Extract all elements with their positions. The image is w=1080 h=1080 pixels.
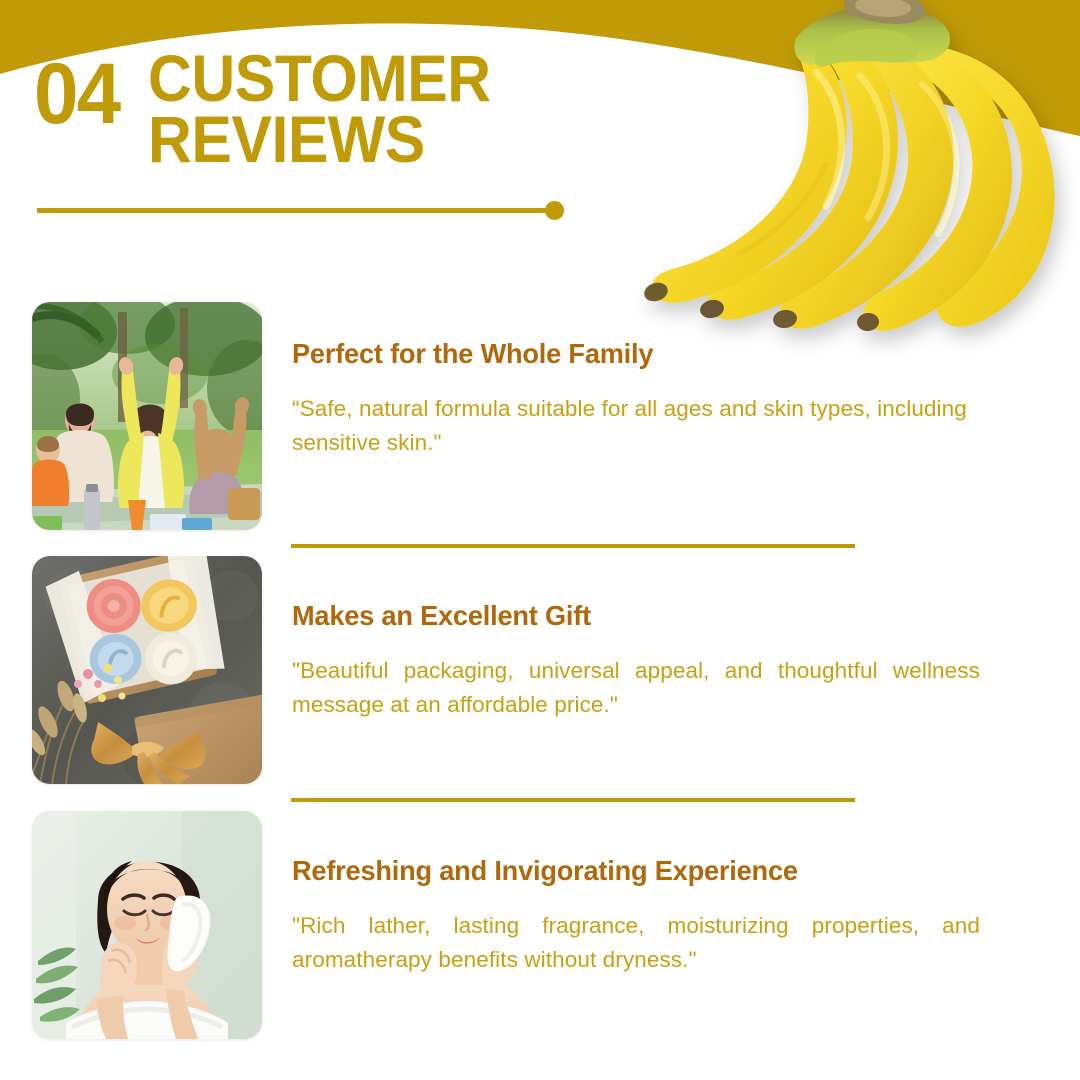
page-header: 04 CUSTOMER REVIEWS <box>34 52 520 171</box>
review-title: Perfect for the Whole Family <box>292 338 971 370</box>
review-text-block: Refreshing and Invigorating Experience "… <box>292 811 992 978</box>
review-separator <box>291 798 855 802</box>
review-body: "Beautiful packaging, universal appeal, … <box>292 654 980 722</box>
family-picnic-photo <box>32 302 262 530</box>
review-body: “Safe, natural formula suitable for all … <box>292 392 980 460</box>
review-title: Refreshing and Invigorating Experience <box>292 855 971 887</box>
review-separator <box>291 544 855 548</box>
review-text-block: Perfect for the Whole Family “Safe, natu… <box>292 302 992 461</box>
review-row: Makes an Excellent Gift "Beautiful packa… <box>32 556 1052 784</box>
title-accent-rule <box>37 208 553 213</box>
soap-gift-box-photo <box>32 556 262 784</box>
review-title: Makes an Excellent Gift <box>292 600 971 632</box>
page-title-line-2: REVIEWS <box>148 109 491 170</box>
page-title: CUSTOMER REVIEWS <box>148 48 520 171</box>
review-text-block: Makes an Excellent Gift "Beautiful packa… <box>292 556 992 723</box>
slide-canvas: 04 CUSTOMER REVIEWS <box>0 0 1080 1080</box>
review-row: Perfect for the Whole Family “Safe, natu… <box>32 302 1052 530</box>
page-title-line-1: CUSTOMER <box>148 48 491 109</box>
review-body: "Rich lather, lasting fragrance, moistur… <box>292 909 980 977</box>
review-row: Refreshing and Invigorating Experience "… <box>32 811 1052 1039</box>
title-accent-dot <box>545 201 564 220</box>
section-number: 04 <box>34 52 119 136</box>
woman-skincare-towel-photo <box>32 811 262 1039</box>
